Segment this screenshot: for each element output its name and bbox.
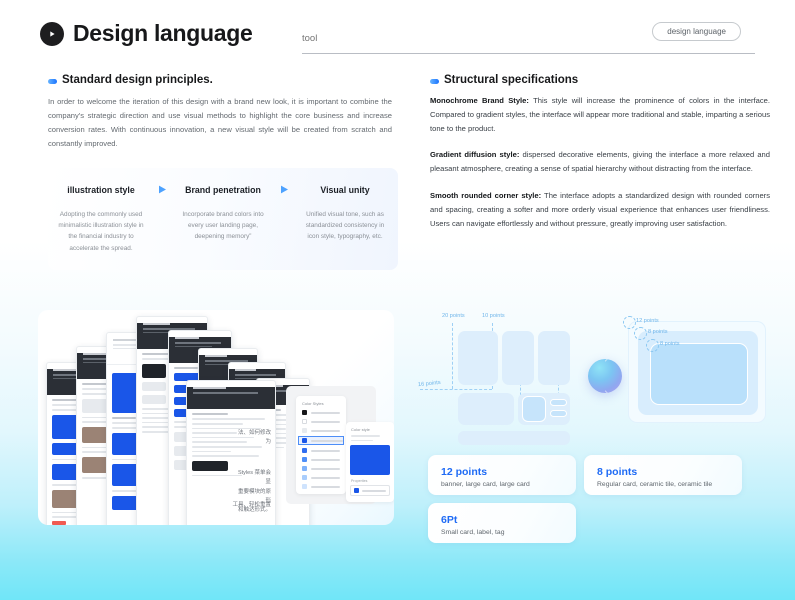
title-group: Design language — [40, 20, 253, 47]
label-20-points: 20 points — [442, 313, 465, 319]
pillar-heading-row: illustration style Brand penetration Vis… — [48, 168, 398, 195]
spec-card-value: 8 points — [597, 466, 729, 478]
style-row[interactable] — [302, 410, 340, 415]
left-column: Standard design principles. In order to … — [48, 74, 392, 151]
bullet-dot-icon — [48, 79, 57, 84]
label-nested-8-points-a: 8 points — [648, 329, 668, 335]
style-row[interactable] — [302, 466, 340, 471]
spec-term-gradient: Gradient diffusion style: — [430, 150, 519, 159]
corner-marker-8-points-a — [634, 327, 647, 340]
swatch-blue-5 — [302, 475, 307, 480]
swatch-blue-3 — [302, 457, 307, 462]
bullet-dot-icon-2 — [430, 79, 439, 84]
properties-label: Properties — [351, 479, 394, 483]
collage-doc-front: Styles 菜单会显 重要模块的原形 和触达形式。 工具、轻松重置 法、如何修… — [186, 380, 276, 525]
guide-16-points — [420, 389, 492, 390]
arrow-right-icon — [154, 184, 170, 195]
swatch-blue-4 — [302, 466, 307, 471]
arrow-right-icon-2 — [276, 184, 292, 195]
swatch-white — [302, 419, 307, 424]
pillar-body-row: Adopting the commonly used minimalistic … — [48, 195, 398, 254]
swatch-primary-blue — [302, 438, 307, 443]
style-row[interactable] — [302, 419, 340, 424]
spec-card-desc: banner, large card, large card — [441, 481, 563, 488]
spec-paragraph-gradient: Gradient diffusion style: dispersed deco… — [430, 148, 770, 176]
right-column: Structural specifications Monochrome Bra… — [430, 74, 770, 231]
spec-paragraph-monochrome: Monochrome Brand Style: This style will … — [430, 94, 770, 135]
label-nested-12-points: 12 points — [636, 318, 659, 324]
pillars-panel: illustration style Brand penetration Vis… — [48, 168, 398, 270]
pillar-body-visual-unity: Unified visual tone, such as standardize… — [292, 209, 398, 254]
style-row-selected[interactable] — [299, 437, 343, 444]
spec-term-monochrome: Monochrome Brand Style: — [430, 96, 529, 105]
nested-card-inner — [650, 343, 748, 405]
label-10-points: 10 points — [482, 313, 505, 319]
corner-marker-12-points — [623, 316, 636, 329]
mock-line-2 — [550, 410, 567, 417]
pillar-head-illustration-style: illustration style — [48, 185, 154, 195]
swatch-blue-2 — [302, 448, 307, 453]
spec-card-value: 6Pt — [441, 514, 563, 526]
guide-20-points — [452, 323, 453, 389]
spec-card-12-points[interactable]: 12 points banner, large card, large card — [428, 455, 576, 495]
spec-term-rounded: Smooth rounded corner style: — [430, 191, 541, 200]
sphere-highlight — [600, 359, 622, 393]
spec-card-desc: Regular card, ceramic tile, ceramic tile — [597, 481, 729, 488]
swatch-label — [311, 486, 340, 488]
color-preview-swatch — [350, 445, 390, 475]
mock-line-1 — [550, 399, 567, 406]
swatch-label — [311, 412, 340, 414]
style-row[interactable] — [302, 475, 340, 480]
tool-input[interactable] — [302, 33, 602, 44]
mock-block-footer-bar — [458, 431, 570, 445]
hex-field[interactable] — [350, 485, 390, 496]
swatch-blue-6 — [302, 484, 307, 489]
page-header: Design language design language — [40, 14, 755, 56]
style-row[interactable] — [302, 484, 340, 489]
page-title: Design language — [73, 20, 253, 47]
swatch-label — [311, 430, 340, 432]
style-row[interactable] — [302, 448, 340, 453]
style-row[interactable] — [302, 457, 340, 462]
structural-specifications-heading: Structural specifications — [430, 74, 770, 86]
standard-principles-heading: Standard design principles. — [48, 74, 392, 86]
gradient-sphere-decoration — [588, 359, 622, 393]
spec-card-6pt[interactable]: 6Pt Small card, label, tag — [428, 503, 576, 543]
style-row[interactable] — [302, 428, 340, 433]
swatch-label — [311, 421, 340, 423]
mock-block-top-left — [458, 331, 498, 385]
standard-principles-paragraph: In order to welcome the iteration of thi… — [48, 95, 392, 151]
swatch-label — [311, 450, 340, 452]
styles-panel-title: Color Styles — [302, 401, 346, 406]
mock-thumb-inner — [522, 396, 546, 422]
collage-caption-2: 工具、轻松重置 — [231, 501, 271, 510]
mock-block-bottom-left — [458, 393, 514, 425]
label-16-points: 16 points — [418, 380, 441, 388]
swatch-grey — [302, 428, 307, 433]
spec-paragraph-rounded: Smooth rounded corner style: The interfa… — [430, 189, 770, 230]
section-title-text: Standard design principles. — [62, 74, 213, 86]
color-properties-card: Color style Properties — [346, 422, 394, 502]
hex-value — [362, 490, 386, 492]
pillar-spacer-2 — [276, 209, 292, 254]
collage-caption-3: 法、如何修改为 — [233, 429, 271, 448]
spec-card-value: 12 points — [441, 466, 563, 478]
pillar-spacer — [154, 209, 170, 254]
swatch-label — [311, 459, 340, 461]
label-nested-8-points-b: 8 points — [660, 341, 680, 347]
swatch-label — [311, 477, 340, 479]
swatch-label — [311, 440, 343, 442]
spacing-diagram: 20 points 10 points 16 points 10 point 8… — [420, 305, 780, 455]
spec-card-desc: Small card, label, tag — [441, 529, 563, 536]
hex-swatch — [354, 488, 359, 493]
swatch-label — [311, 468, 340, 470]
spec-card-8-points[interactable]: 8 points Regular card, ceramic tile, cer… — [584, 455, 742, 495]
swatch-black — [302, 410, 307, 415]
styles-list-card: Color Styles — [296, 396, 346, 494]
pillar-body-illustration-style: Adopting the commonly used minimalistic … — [48, 209, 154, 254]
properties-title: Color style — [351, 427, 394, 432]
doc-header-bar-front — [187, 387, 275, 409]
mock-block-top-right — [538, 331, 570, 385]
corner-marker-8-points-b — [646, 339, 659, 352]
pillar-body-brand-penetration: Incorporate brand colors into every user… — [170, 209, 276, 254]
design-language-tag[interactable]: design language — [652, 22, 741, 41]
pillar-head-brand-penetration: Brand penetration — [170, 185, 276, 195]
mock-block-top-mid — [502, 331, 534, 385]
screenshot-collage: Styles 菜单会显 重要模块的原形 和触达形式。 工具、轻松重置 法、如何修… — [38, 310, 394, 525]
section-title-text-2: Structural specifications — [444, 74, 578, 86]
play-icon[interactable] — [40, 22, 64, 46]
pillar-head-visual-unity: Visual unity — [292, 185, 398, 195]
